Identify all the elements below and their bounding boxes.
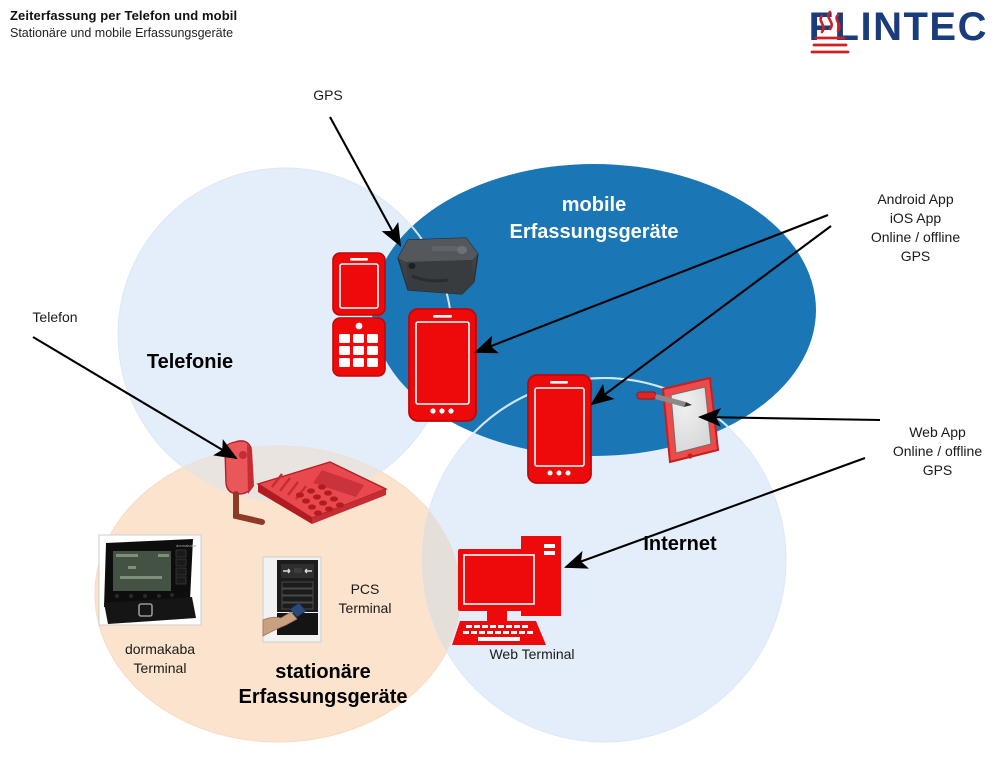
- label-mobile: mobile Erfassungsgeräte: [434, 192, 754, 246]
- label-internet: Internet: [600, 532, 760, 557]
- arrow-gps: [330, 117, 400, 245]
- arrow-android-2: [592, 226, 831, 404]
- callout-telefon: Telefon: [10, 308, 100, 327]
- callout-gps: GPS: [288, 86, 368, 105]
- device-label-pcs: PCS Terminal: [325, 580, 405, 618]
- arrow-webapp: [700, 417, 880, 420]
- diagram-canvas: Zeiterfassung per Telefon und mobil Stat…: [0, 0, 1000, 760]
- callout-android: Android App iOS App Online / offline GPS: [838, 190, 993, 266]
- device-label-web-terminal: Web Terminal: [452, 645, 612, 664]
- device-label-dormakaba: dormakaba Terminal: [105, 640, 215, 678]
- label-telefonie: Telefonie: [120, 350, 260, 375]
- callout-webapp: Web App Online / offline GPS: [880, 423, 995, 480]
